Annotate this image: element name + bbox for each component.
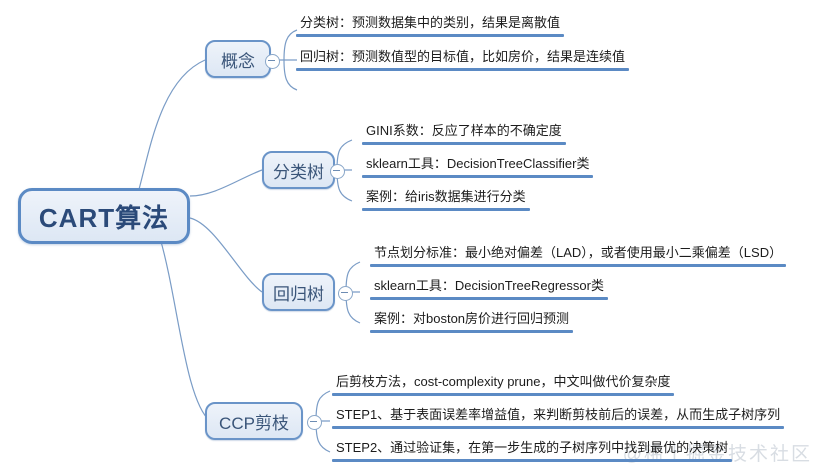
leaf-item[interactable]: GINI系数：反应了样本的不确定度	[362, 122, 566, 145]
leaf-label: 回归树：预测数值型的目标值，比如房价，结果是连续值	[296, 48, 629, 68]
leaf-label: 节点划分标准：最小绝对偏差（LAD），或者使用最小二乘偏差（LSD）	[370, 244, 786, 264]
leaf-underline	[332, 459, 732, 462]
leaf-underline	[362, 208, 530, 211]
leaf-item[interactable]: 案例：给iris数据集进行分类	[362, 188, 530, 211]
collapse-minus-icon-ccp-pruning[interactable]	[307, 415, 322, 430]
leaf-label: 分类树：预测数据集中的类别，结果是离散值	[296, 14, 564, 34]
leaf-underline	[370, 330, 573, 333]
branch-node-regression-tree-label: 回归树	[273, 280, 324, 305]
root-node-label: CART算法	[39, 198, 169, 235]
leaf-item[interactable]: sklearn工具：DecisionTreeRegressor类	[370, 277, 608, 300]
leaf-item[interactable]: 后剪枝方法，cost-complexity prune，中文叫做代价复杂度	[332, 373, 674, 396]
branch-node-ccp-pruning[interactable]: CCP剪枝	[205, 402, 303, 440]
leaf-item[interactable]: 分类树：预测数据集中的类别，结果是离散值	[296, 14, 564, 37]
leaf-label: STEP1、基于表面误差率增益值，来判断剪枝前后的误差，从而生成子树序列	[332, 406, 784, 426]
leaf-label: 案例：给iris数据集进行分类	[362, 188, 530, 208]
wire-root-to-classification	[190, 170, 262, 196]
leaf-underline	[370, 264, 786, 267]
leaf-underline	[296, 68, 629, 71]
leaf-label: STEP2、通过验证集，在第一步生成的子树序列中找到最优的决策树	[332, 439, 732, 459]
leaf-label: 案例：对boston房价进行回归预测	[370, 310, 573, 330]
leaf-item[interactable]: sklearn工具：DecisionTreeClassifier类	[362, 155, 593, 178]
mindmap-canvas: CART算法 概念 分类树：预测数据集中的类别，结果是离散值 回归树：预测数值型…	[0, 0, 820, 472]
leaf-underline	[332, 393, 674, 396]
leaf-label: 后剪枝方法，cost-complexity prune，中文叫做代价复杂度	[332, 373, 674, 393]
leaf-item[interactable]: STEP1、基于表面误差率增益值，来判断剪枝前后的误差，从而生成子树序列	[332, 406, 784, 429]
leaf-item[interactable]: 案例：对boston房价进行回归预测	[370, 310, 573, 333]
leaf-underline	[370, 297, 608, 300]
branch-node-ccp-pruning-label: CCP剪枝	[219, 409, 289, 434]
leaf-label: sklearn工具：DecisionTreeRegressor类	[370, 277, 608, 297]
leaf-underline	[296, 34, 564, 37]
wire-root-to-concept	[138, 60, 205, 193]
branch-node-regression-tree[interactable]: 回归树	[262, 273, 335, 311]
wire-root-to-ccp	[160, 238, 210, 421]
branch-node-concept-label: 概念	[221, 47, 255, 72]
leaf-item[interactable]: 回归树：预测数值型的目标值，比如房价，结果是连续值	[296, 48, 629, 71]
leaf-underline	[332, 426, 784, 429]
leaf-underline	[362, 142, 566, 145]
branch-node-classification-tree-label: 分类树	[273, 158, 324, 183]
root-node[interactable]: CART算法	[18, 188, 190, 244]
leaf-item[interactable]: 节点划分标准：最小绝对偏差（LAD），或者使用最小二乘偏差（LSD）	[370, 244, 786, 267]
collapse-minus-icon-regression-tree[interactable]	[338, 286, 353, 301]
leaf-item[interactable]: STEP2、通过验证集，在第一步生成的子树序列中找到最优的决策树	[332, 439, 732, 462]
collapse-minus-icon-classification-tree[interactable]	[330, 164, 345, 179]
leaf-label: GINI系数：反应了样本的不确定度	[362, 122, 566, 142]
branch-node-concept[interactable]: 概念	[205, 40, 271, 78]
branch-node-classification-tree[interactable]: 分类树	[262, 151, 335, 189]
collapse-minus-icon-concept[interactable]	[265, 54, 280, 69]
leaf-underline	[362, 175, 593, 178]
wire-root-to-regression	[190, 218, 262, 292]
leaf-label: sklearn工具：DecisionTreeClassifier类	[362, 155, 593, 175]
